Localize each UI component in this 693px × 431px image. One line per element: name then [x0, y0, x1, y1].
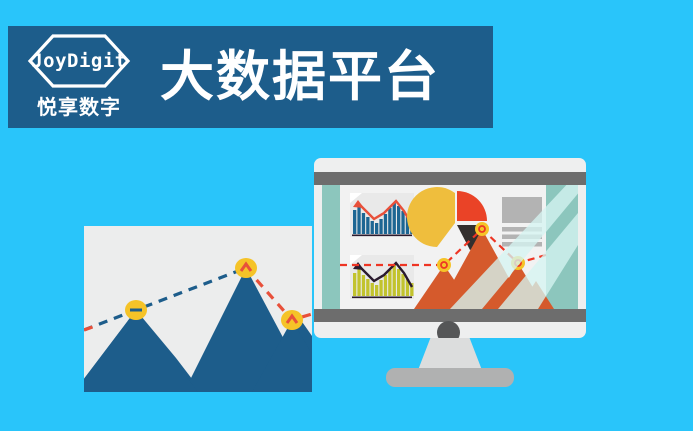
- left-mountain-chart-panel: [84, 226, 312, 392]
- header-banner: JoyDigit 悦享数字 大数据平台: [8, 26, 493, 128]
- screen-side-panel-left: [322, 185, 340, 309]
- monitor-frame: [314, 158, 586, 338]
- logo-latin-text: JoyDigit: [31, 50, 127, 72]
- hexagon-outline-icon: JoyDigit: [27, 34, 131, 88]
- page-title: 大数据平台: [160, 50, 440, 104]
- brand-logo: JoyDigit 悦享数字: [20, 31, 138, 123]
- monitor-screen: [322, 185, 578, 309]
- logo-chinese-text: 悦享数字: [37, 91, 121, 120]
- monitor-bottom-bar: [314, 309, 586, 322]
- chart-card-olive-bars: [350, 255, 414, 299]
- monitor-top-bar: [314, 172, 586, 185]
- chart-card-blue-bars: [350, 193, 414, 237]
- monitor-stand-base: [386, 368, 514, 387]
- poster-canvas: JoyDigit 悦享数字 大数据平台: [0, 0, 693, 431]
